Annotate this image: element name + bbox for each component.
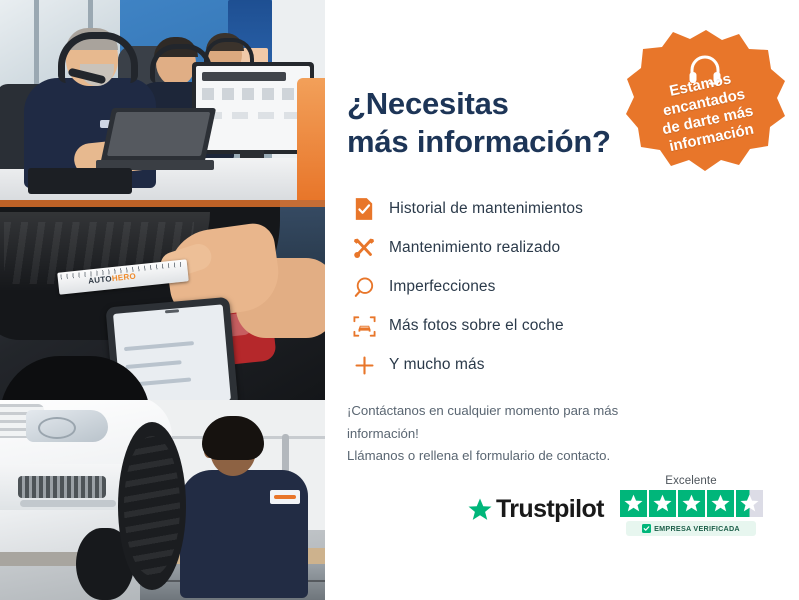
headline-line-1: ¿Necesitas — [347, 86, 509, 121]
trustpilot-wordmark: Trustpilot — [496, 495, 604, 524]
chrome-trim — [20, 500, 116, 507]
car-headlight — [26, 410, 108, 442]
magnifier-icon — [347, 272, 381, 302]
mechanic — [186, 418, 316, 600]
contact-line-2: Llámanos o rellena el formulario de cont… — [347, 445, 657, 468]
document-check-icon — [347, 194, 381, 224]
star-rating — [615, 490, 767, 517]
feature-item-more-photos: Más fotos sobre el coche — [347, 307, 647, 345]
feature-item-maintenance-done: Mantenimiento realizado — [347, 229, 647, 267]
contact-line-1: ¡Contáctanos en cualquier momento para m… — [347, 400, 657, 445]
ruler-logo-hero: HERO — [111, 272, 136, 283]
contact-text: ¡Contáctanos en cualquier momento para m… — [347, 400, 657, 468]
laptop-screen — [100, 108, 216, 166]
call-center-agents-photo — [0, 0, 325, 200]
feature-label: Y mucho más — [381, 356, 485, 374]
tablet-on-desk — [28, 168, 132, 194]
information-banner: AUTOHERO — [0, 0, 799, 600]
page-title: ¿Necesitas más información? — [347, 85, 647, 161]
star-5-half — [736, 490, 763, 517]
feature-label: Historial de mantenimientos — [381, 200, 583, 218]
star-3 — [678, 490, 705, 517]
bumper-vent — [18, 476, 106, 498]
feature-label: Imperfecciones — [381, 278, 496, 296]
feature-item-imperfections: Imperfecciones — [347, 268, 647, 306]
trustpilot-star-icon — [467, 497, 493, 523]
feature-item-maintenance-history: Historial de mantenimientos — [347, 190, 647, 228]
content-panel: ¿Necesitas más información? Estamos enca… — [325, 0, 799, 600]
promo-badge: Estamos encantados de darte más informac… — [625, 28, 787, 192]
feature-label: Mantenimiento realizado — [381, 239, 560, 257]
trustpilot-logo: Trustpilot — [467, 495, 604, 524]
crossed-tools-icon — [347, 233, 381, 263]
workshop-wheel-service-photo — [0, 400, 325, 600]
verified-check-icon — [642, 524, 651, 533]
car-viewfinder-icon — [347, 311, 381, 341]
feature-list: Historial de mantenimientos Mantenimient… — [347, 190, 647, 385]
photo-column: AUTOHERO — [0, 0, 325, 600]
star-1 — [620, 490, 647, 517]
star-4 — [707, 490, 734, 517]
ruler-logo-auto: AUTO — [88, 274, 113, 285]
feature-item-much-more: Y mucho más — [347, 346, 647, 384]
orange-equipment — [297, 78, 325, 200]
headline-line-2: más información? — [347, 123, 647, 161]
vehicle-inspection-photo: AUTOHERO — [0, 200, 325, 400]
front-tyre — [118, 422, 186, 590]
trustpilot-rating: Trustpilot Excelente EMPRESA VERIFICAD — [467, 475, 767, 550]
top-orange-strip — [0, 200, 325, 207]
star-2 — [649, 490, 676, 517]
feature-label: Más fotos sobre el coche — [381, 317, 564, 335]
rating-label: Excelente — [615, 475, 767, 487]
plus-icon — [347, 350, 381, 380]
trustpilot-score-block: Excelente EMPRESA VERIFICADA — [615, 475, 767, 536]
verified-label: EMPRESA VERIFICADA — [654, 524, 740, 533]
verified-company-badge: EMPRESA VERIFICADA — [626, 521, 756, 536]
